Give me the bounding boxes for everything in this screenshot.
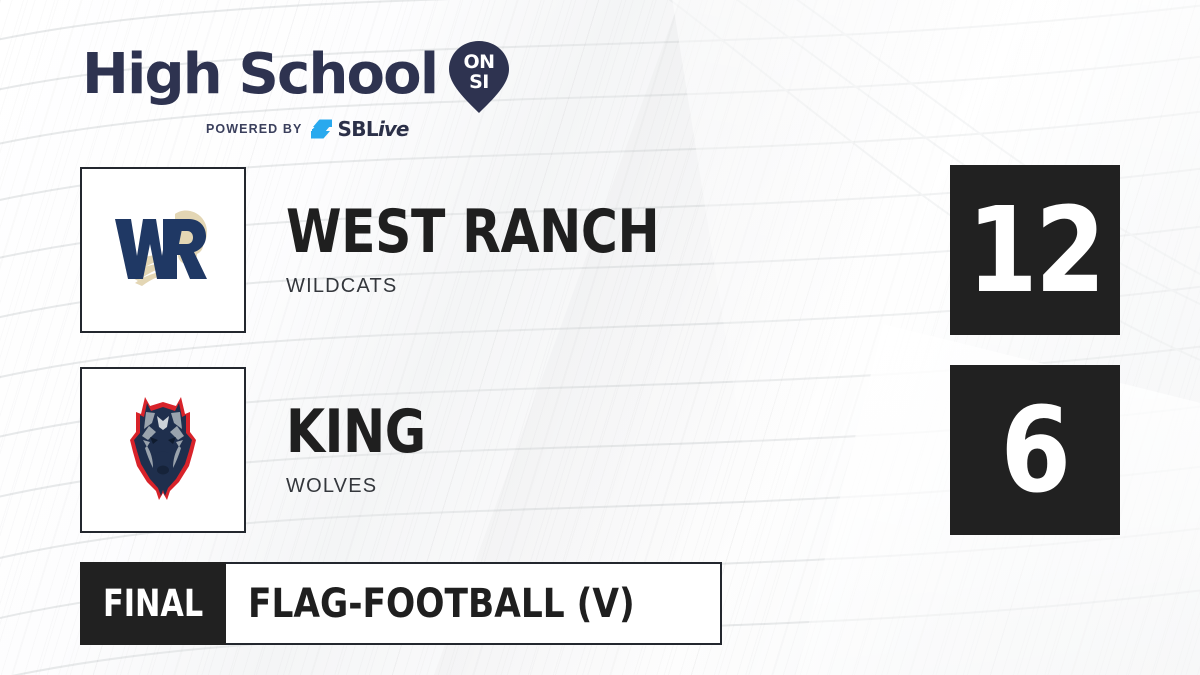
brand-header: High School ON SI POWERED BY [82, 38, 512, 139]
team-mascot: WILDCATS [286, 275, 730, 298]
game-state-badge: FINAL [80, 562, 226, 645]
team-row: WEST RANCH WILDCATS [80, 165, 730, 335]
team-mascot: WOLVES [286, 475, 452, 498]
sblive-word-italic: ive [378, 117, 408, 141]
team-row: KING WOLVES [80, 365, 452, 535]
team-text-block: WEST RANCH WILDCATS [286, 203, 730, 298]
team-text-block: KING WOLVES [286, 403, 452, 498]
sport-label: FLAG-FOOTBALL (V) [248, 584, 635, 624]
sblive-s-mark-icon [311, 119, 333, 139]
brand-wordmark: High School [82, 47, 437, 103]
score-box: 12 [950, 165, 1120, 335]
score-box: 6 [950, 365, 1120, 535]
king-wolves-logo-icon [103, 390, 223, 510]
sblive-word-bold: SBL [337, 117, 378, 141]
west-ranch-wildcats-logo-icon [103, 190, 223, 310]
sblive-logo: SBLive [311, 119, 408, 139]
team-name: KING [286, 403, 426, 461]
team-name: WEST RANCH [286, 203, 659, 261]
team-score: 12 [967, 191, 1103, 309]
pin-text-si: SI [469, 71, 489, 93]
pin-text-on: ON [464, 51, 495, 73]
powered-by-label: POWERED BY [206, 122, 302, 136]
team-logo-box [80, 167, 246, 333]
team-score: 6 [1001, 391, 1069, 509]
game-state-label: FINAL [103, 585, 203, 622]
scoreboard-graphic: High School ON SI POWERED BY [0, 0, 1200, 675]
sblive-wordmark: SBLive [337, 119, 408, 139]
sport-label-panel: FLAG-FOOTBALL (V) [226, 562, 722, 645]
status-bar: FINAL FLAG-FOOTBALL (V) [80, 562, 722, 645]
on-si-pin-icon: ON SI [447, 40, 511, 114]
powered-by-lockup: POWERED BY SBLive [206, 119, 512, 139]
brand-lockup: High School ON SI [82, 38, 512, 112]
team-logo-box [80, 367, 246, 533]
